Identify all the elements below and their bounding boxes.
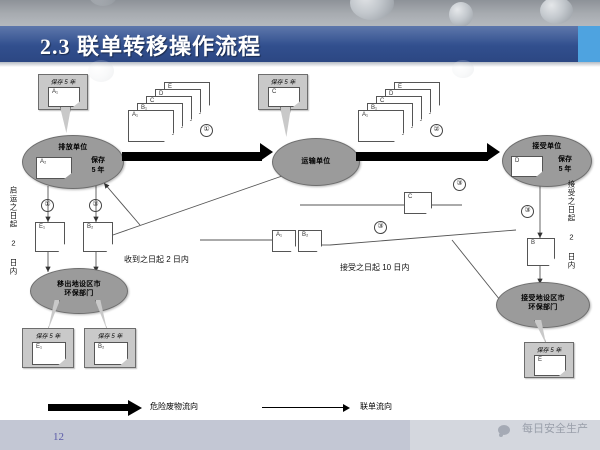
bubble-decor-icon	[540, 0, 573, 24]
document-label: A₁	[362, 112, 368, 118]
document-label: B₂	[98, 344, 104, 350]
document-label: A₁	[132, 112, 138, 118]
step-number-1b: ①	[41, 199, 54, 212]
callout-origin-b2: 保存 5 年 B₂	[84, 328, 136, 368]
document-label: B₂	[302, 232, 308, 238]
step-number-3d: ③	[521, 205, 534, 218]
keep-line-1: 保存	[91, 157, 105, 164]
waste-flow-arrow-head-1	[260, 143, 273, 161]
callout-text: 保存 5 年	[85, 331, 135, 340]
bubble-decor-icon	[452, 60, 474, 78]
node-label: 排放单位	[23, 143, 123, 152]
document-a1: A₁	[358, 110, 404, 142]
document-label: D	[515, 158, 519, 164]
node-emitter[interactable]: 排放单位 A₂ 保存 5 年	[22, 135, 124, 189]
step-number-2: ②	[430, 124, 443, 137]
node-keep-text: 保存 5 年	[81, 156, 115, 176]
node-receiver[interactable]: 接受单位 D 保存 5 年	[502, 135, 592, 187]
step-number-3b: ③	[89, 199, 102, 212]
node-label-line2: 环保部门	[31, 289, 127, 298]
document-label: B	[531, 240, 535, 246]
document-e1-loose: E₁	[35, 222, 65, 252]
document-a1-loose: A₁	[272, 230, 296, 252]
legend-waste-arrow-bar	[48, 404, 130, 411]
note-right-vertical: 接受之日起 2 日内	[566, 180, 577, 270]
header-accent-block	[578, 26, 600, 62]
legend-manifest-arrow-head	[343, 404, 350, 412]
bubble-decor-icon	[449, 2, 473, 27]
document-label: C	[272, 89, 276, 95]
document-c-loose: C	[404, 192, 432, 214]
node-label-line1: 移出地设区市	[31, 280, 127, 289]
legend-manifest-label: 联单流向	[360, 401, 392, 412]
keep-line-2: 5 年	[92, 167, 105, 174]
step-number-3a: ③	[453, 178, 466, 191]
slide: 2.3 联单转移操作流程	[0, 0, 600, 450]
callout-tail	[280, 107, 291, 137]
document-label: C	[408, 194, 412, 200]
document-a2: A₂	[36, 157, 72, 179]
node-label-line2: 环保部门	[497, 303, 589, 312]
callout-text: 保存 5 年	[525, 345, 573, 354]
note-mid-right: 接受之日起 10 日内	[340, 262, 409, 273]
node-keep-text: 保存 5 年	[549, 155, 581, 175]
wechat-icon	[498, 425, 510, 435]
waste-flow-arrow-1	[122, 152, 262, 161]
document-a1: A₁	[48, 87, 80, 107]
document-d: D	[511, 156, 543, 177]
document-b2-loose: B₂	[83, 222, 113, 252]
callout-text: 保存 5 年	[23, 331, 73, 340]
document-label: A₁	[52, 89, 58, 95]
document-b2: B₂	[94, 342, 128, 365]
document-label: B₂	[87, 224, 93, 230]
node-label: 运输单位	[273, 157, 359, 166]
document-e1: E₁	[32, 342, 66, 365]
keep-line-1: 保存	[558, 156, 572, 163]
document-e: E	[534, 355, 566, 376]
document-label: E	[538, 357, 542, 363]
watermark-text: 每日安全生产	[522, 420, 588, 436]
step-number-3c: ③	[374, 221, 387, 234]
document-label: E₁	[36, 344, 42, 350]
waste-flow-arrow-head-2	[487, 143, 500, 161]
callout-dest-e: 保存 5 年 E	[524, 342, 574, 378]
document-label: A₁	[276, 232, 282, 238]
node-label: 接受单位	[503, 142, 591, 151]
callout-emitter-keep: 保存 5 年 A₁	[38, 74, 88, 110]
waste-flow-arrow-2	[356, 152, 488, 161]
document-a1: A₁	[128, 110, 174, 142]
callout-origin-e1: 保存 5 年 E₁	[22, 328, 74, 368]
document-b-loose: B	[527, 238, 555, 266]
callout-text: 保存 5 年	[259, 77, 307, 86]
node-transporter[interactable]: 运输单位	[272, 138, 360, 186]
callout-text: 保存 5 年	[39, 77, 87, 86]
node-dest-bureau[interactable]: 接受地设区市 环保部门	[496, 282, 590, 328]
keep-line-2: 5 年	[559, 166, 572, 173]
legend-manifest-arrow-line	[262, 407, 344, 408]
bubble-decor-icon	[88, 0, 118, 6]
document-label: E₁	[39, 224, 45, 230]
document-c: C	[268, 87, 300, 107]
legend-waste-arrow-head	[128, 400, 142, 416]
legend-waste-label: 危险废物流向	[150, 401, 198, 412]
document-label: A₂	[40, 159, 46, 165]
page-title: 2.3 联单转移操作流程	[40, 29, 261, 61]
bubble-decor-icon	[88, 60, 114, 82]
node-label-line1: 接受地设区市	[497, 294, 589, 303]
page-number: 12	[53, 431, 64, 443]
callout-transporter-keep: 保存 5 年 C	[258, 74, 308, 110]
note-left-vertical: 启运之日起 2 日内	[8, 186, 19, 276]
node-origin-bureau[interactable]: 移出地设区市 环保部门	[30, 268, 128, 314]
document-b2-mid-loose: B₂	[298, 230, 322, 252]
callout-tail	[60, 107, 71, 133]
note-mid-left: 收到之日起 2 日内	[124, 254, 189, 265]
step-number-1: ①	[200, 124, 213, 137]
bubble-decor-icon	[350, 0, 394, 20]
